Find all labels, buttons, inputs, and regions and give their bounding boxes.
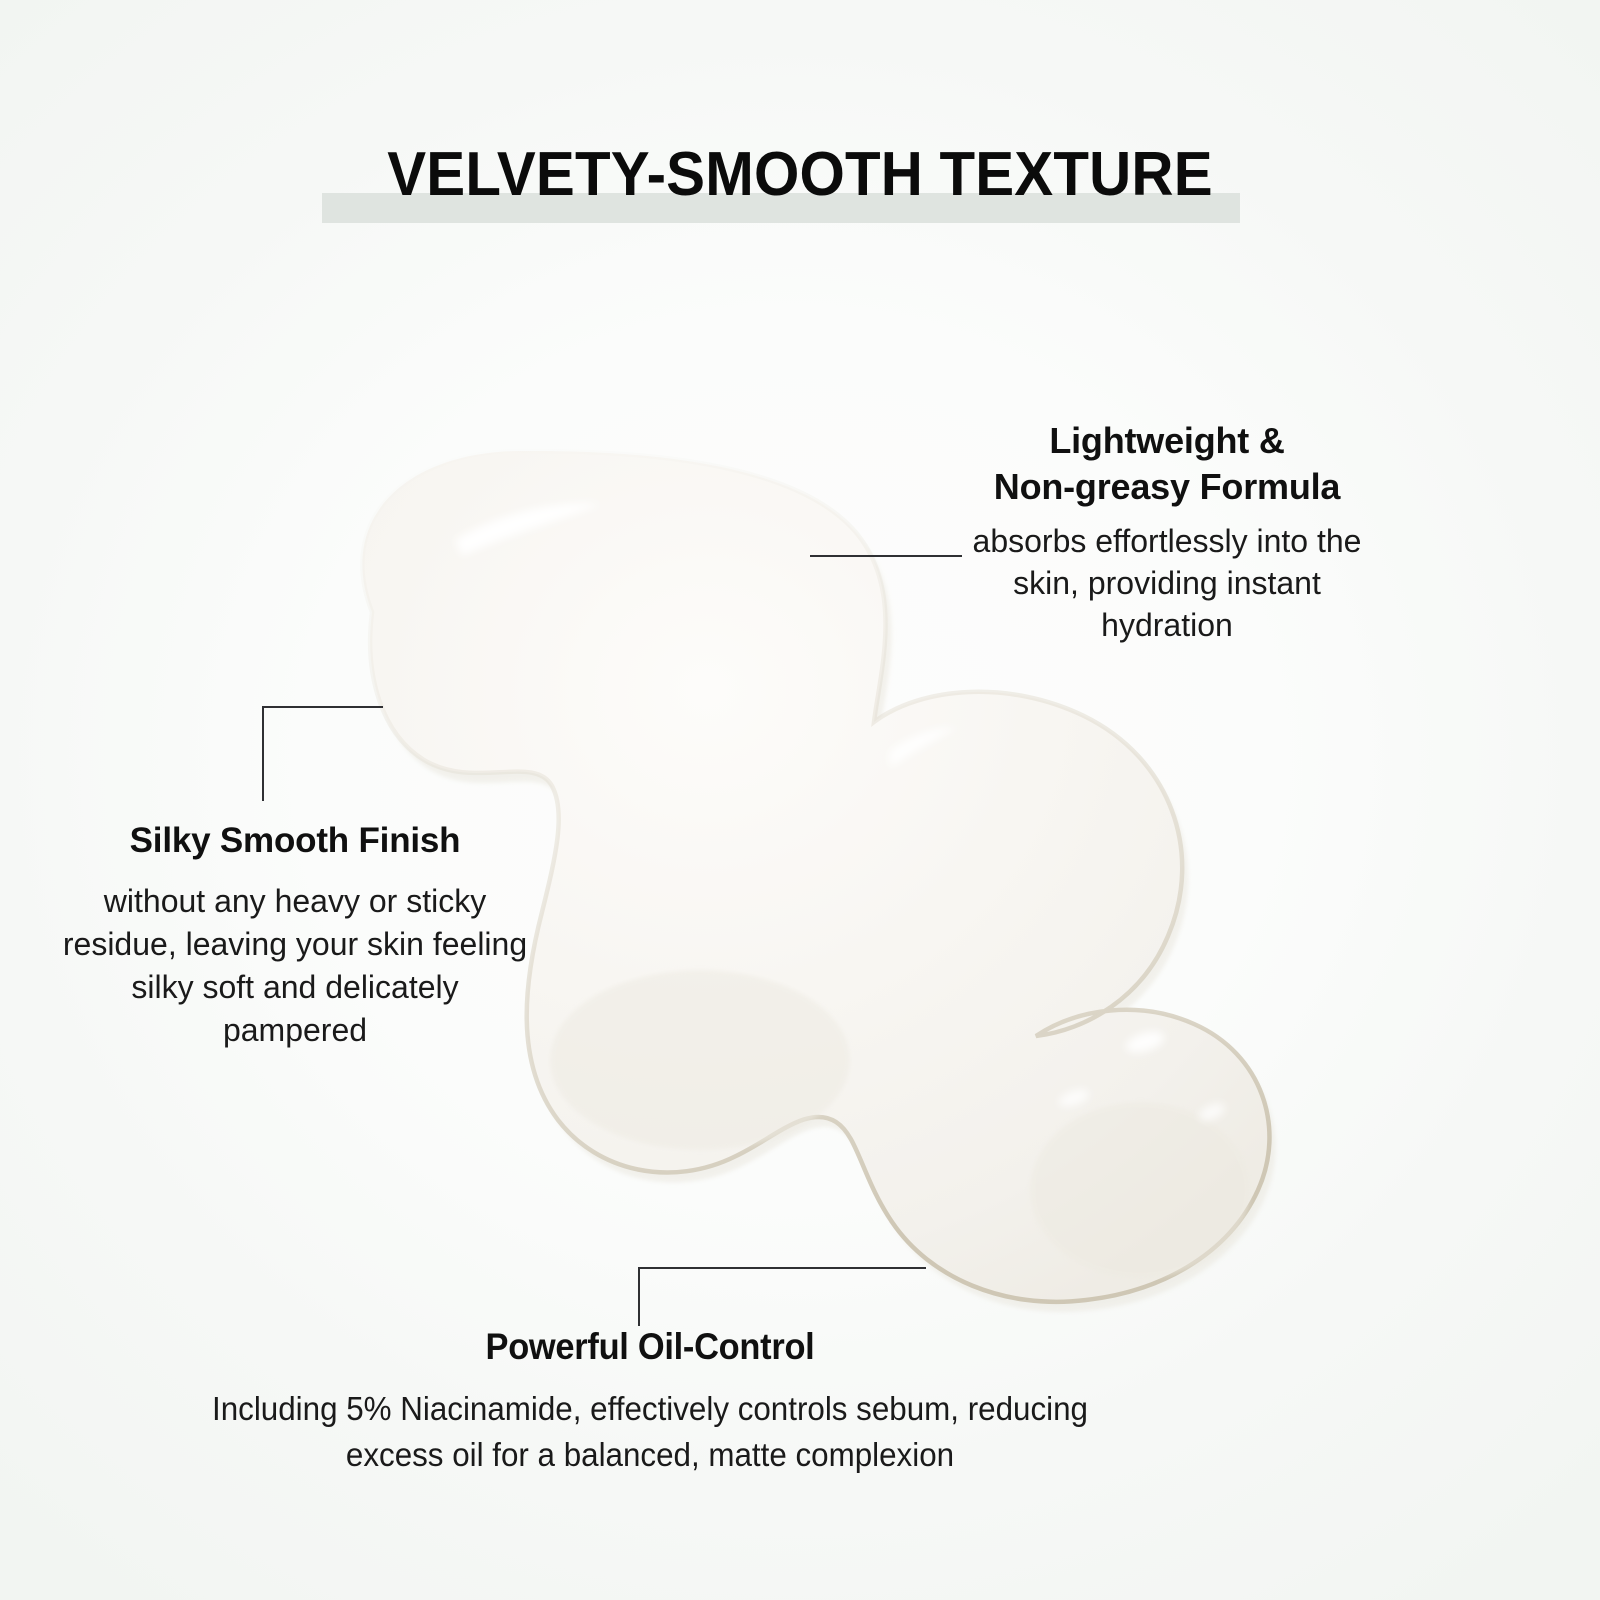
- leader-line-oilcontrol-vertical: [638, 1267, 640, 1326]
- leader-line-lightweight: [810, 555, 962, 557]
- leader-line-silky-horizontal: [262, 706, 383, 708]
- callout-silky-body: without any heavy or sticky residue, lea…: [60, 880, 530, 1052]
- leader-line-oilcontrol-horizontal: [638, 1267, 926, 1269]
- title-block: VELVETY-SMOOTH TEXTURE: [0, 132, 1600, 242]
- callout-lightweight: Lightweight & Non-greasy Formula absorbs…: [952, 418, 1382, 646]
- callout-oilcontrol-body: Including 5% Niacinamide, effectively co…: [185, 1386, 1116, 1478]
- callout-lightweight-body: absorbs effortlessly into the skin, prov…: [952, 520, 1382, 646]
- callout-lightweight-heading-line1: Lightweight &: [1049, 420, 1284, 461]
- callout-lightweight-heading: Lightweight & Non-greasy Formula: [952, 418, 1382, 510]
- callout-oilcontrol: Powerful Oil-Control Including 5% Niacin…: [160, 1322, 1140, 1478]
- callout-oilcontrol-heading: Powerful Oil-Control: [194, 1322, 1105, 1372]
- page-title: VELVETY-SMOOTH TEXTURE: [48, 132, 1552, 218]
- infographic-canvas: VELVETY-SMOOTH TEXTURE: [0, 0, 1600, 1600]
- callout-silky: Silky Smooth Finish without any heavy or…: [60, 818, 530, 1052]
- callout-silky-heading: Silky Smooth Finish: [60, 818, 530, 864]
- callout-lightweight-heading-line2: Non-greasy Formula: [994, 466, 1340, 507]
- leader-line-silky-vertical: [262, 706, 264, 801]
